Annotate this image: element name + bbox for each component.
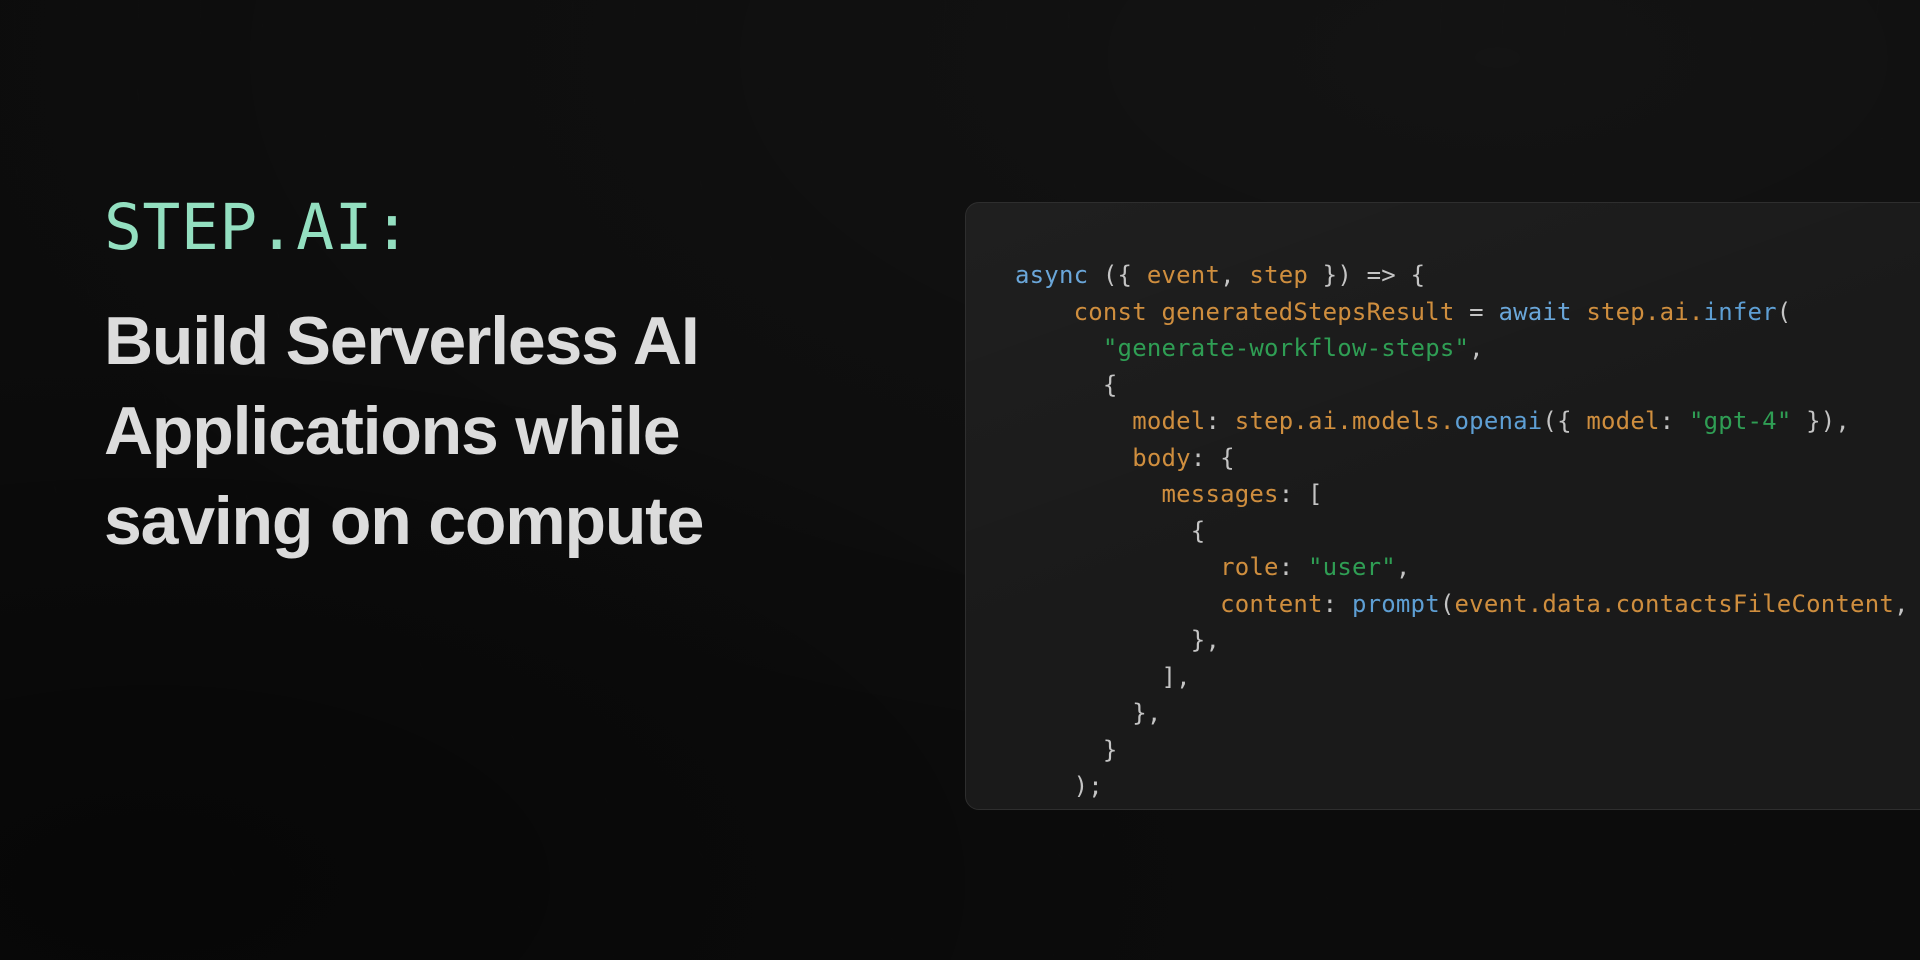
code-line: const generatedStepsResult = await step.… — [1015, 294, 1909, 331]
code-token — [1015, 590, 1220, 618]
code-token: ( — [1777, 298, 1792, 326]
code-line: model: step.ai.models.openai({ model: "g… — [1015, 403, 1909, 440]
code-snippet-panel: async ({ event, step }) => { const gener… — [965, 202, 1920, 810]
code-line: }, — [1015, 695, 1909, 732]
code-token: ); — [1015, 772, 1103, 800]
code-token: body — [1132, 444, 1191, 472]
code-token: } — [1015, 736, 1118, 764]
page-title: Build Serverless AI Applications while s… — [104, 297, 804, 566]
code-line: async ({ event, step }) => { — [1015, 257, 1909, 294]
code-token: = — [1454, 298, 1498, 326]
code-token: { — [1015, 517, 1205, 545]
code-token: infer — [1704, 298, 1777, 326]
code-token: }) => { — [1308, 261, 1425, 289]
code-token: step.ai.models. — [1235, 407, 1455, 435]
code-token: "user" — [1308, 553, 1396, 581]
code-token: async — [1015, 261, 1088, 289]
code-token: event — [1147, 261, 1220, 289]
code-token: , — [1220, 261, 1249, 289]
code-token: , — [1894, 590, 1909, 618]
code-token — [1015, 334, 1103, 362]
code-token: : — [1279, 553, 1308, 581]
code-token — [1572, 298, 1587, 326]
code-line: ], — [1015, 659, 1909, 696]
code-token: model — [1132, 407, 1205, 435]
code-token: : [ — [1279, 480, 1323, 508]
code-line: } — [1015, 732, 1909, 769]
code-token — [1015, 480, 1162, 508]
code-token: ], — [1015, 663, 1191, 691]
code-token: event.data.contactsFileContent — [1455, 590, 1894, 618]
hero-banner: STEP.AI: Build Serverless AI Application… — [0, 0, 1920, 960]
code-token: ({ — [1542, 407, 1586, 435]
hero-text-column: STEP.AI: Build Serverless AI Application… — [104, 196, 864, 566]
code-token: openai — [1455, 407, 1543, 435]
code-token: prompt — [1352, 590, 1440, 618]
code-line: body: { — [1015, 440, 1909, 477]
code-line: { — [1015, 367, 1909, 404]
code-line: }, — [1015, 622, 1909, 659]
code-token: }), — [1791, 407, 1850, 435]
code-line: messages: [ — [1015, 476, 1909, 513]
eyebrow-label: STEP.AI: — [104, 196, 864, 259]
code-line: { — [1015, 513, 1909, 550]
code-token: const generatedStepsResult — [1015, 298, 1454, 326]
code-token: { — [1015, 371, 1118, 399]
code-token: "generate-workflow-steps" — [1103, 334, 1469, 362]
code-block: async ({ event, step }) => { const gener… — [1015, 257, 1909, 805]
code-token: : { — [1191, 444, 1235, 472]
code-line: role: "user", — [1015, 549, 1909, 586]
code-token — [1015, 444, 1132, 472]
code-line: content: prompt(event.data.contactsFileC… — [1015, 586, 1909, 623]
code-line: ); — [1015, 768, 1909, 805]
code-token: step.ai. — [1586, 298, 1703, 326]
code-token: }, — [1015, 699, 1162, 727]
code-token: : — [1323, 590, 1352, 618]
code-token: model — [1586, 407, 1659, 435]
code-token — [1015, 407, 1132, 435]
code-token: }, — [1015, 626, 1220, 654]
code-token: ({ — [1088, 261, 1147, 289]
code-token: content — [1220, 590, 1323, 618]
code-token: messages — [1162, 480, 1279, 508]
code-line: "generate-workflow-steps", — [1015, 330, 1909, 367]
code-token: , — [1469, 334, 1484, 362]
code-token: await — [1498, 298, 1571, 326]
code-token: : — [1660, 407, 1689, 435]
code-token: "gpt-4" — [1689, 407, 1792, 435]
code-token: role — [1220, 553, 1279, 581]
code-token: , — [1396, 553, 1411, 581]
code-token: ( — [1440, 590, 1455, 618]
code-token: : — [1205, 407, 1234, 435]
code-token: step — [1249, 261, 1308, 289]
code-token — [1015, 553, 1220, 581]
